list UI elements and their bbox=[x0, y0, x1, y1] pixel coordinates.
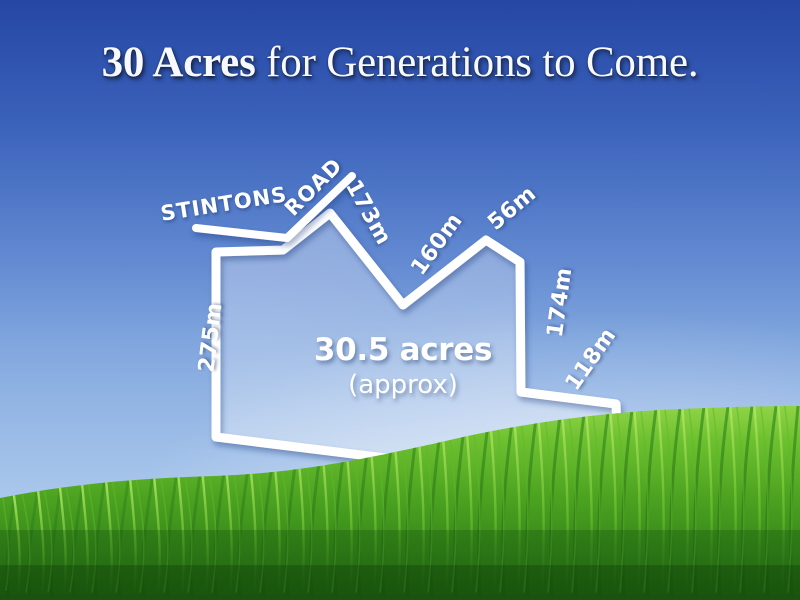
grass-foreground bbox=[0, 380, 800, 600]
land-parcel-marketing-image: 30 Acres for Generations to Come. STINTO… bbox=[0, 0, 800, 600]
parcel-area-value: 30.5 acres bbox=[243, 332, 563, 368]
